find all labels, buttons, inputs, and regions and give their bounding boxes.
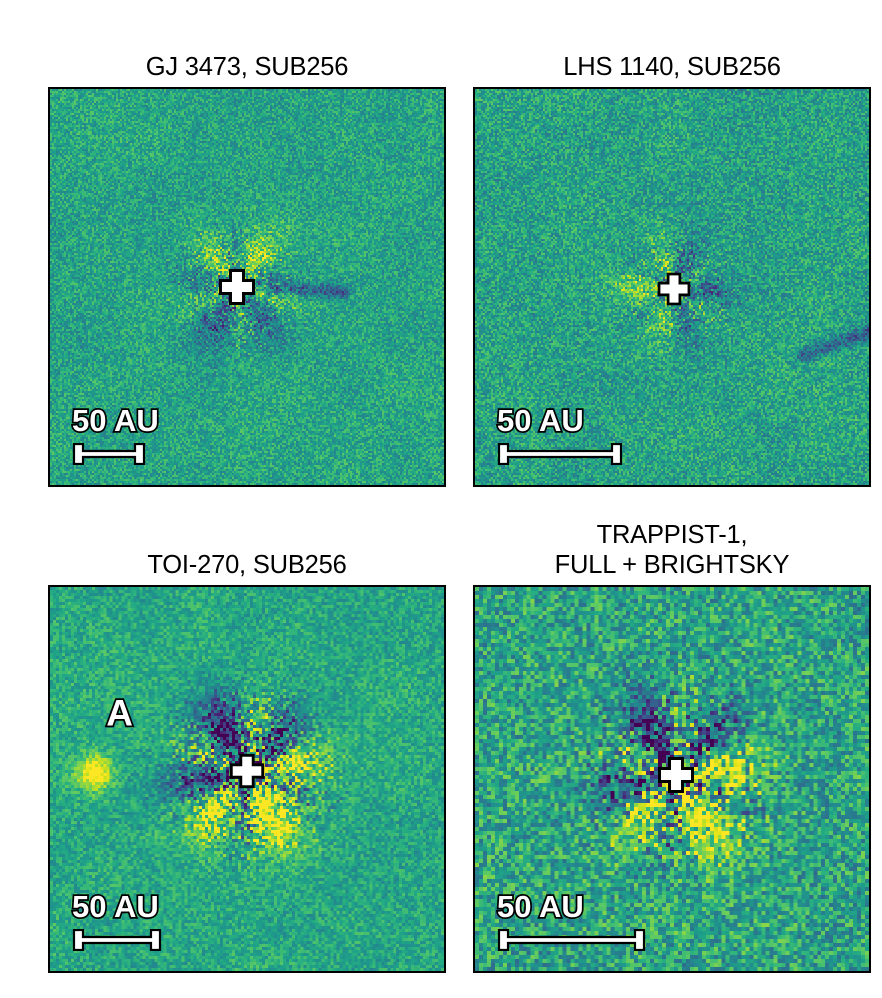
scalebar-lhs1140: 50 AU	[497, 405, 623, 465]
image-panel-gj3473[interactable]: GJ 3473, SUB256 50 AU	[48, 87, 446, 487]
panel-title-lhs1140: LHS 1140, SUB256	[473, 52, 871, 82]
panel-title-trappist1: TRAPPIST-1, FULL + BRIGHTSKY	[473, 520, 871, 580]
image-panel-trappist1[interactable]: TRAPPIST-1, FULL + BRIGHTSKY 50 AU	[473, 585, 871, 973]
scalebar-ibeam-toi270	[72, 929, 162, 951]
scalebar-trappist1: 50 AU	[497, 891, 646, 951]
scalebar-label-lhs1140: 50 AU	[497, 405, 623, 436]
scalebar-ibeam-gj3473	[72, 443, 146, 465]
scalebar-ibeam-lhs1140	[497, 443, 623, 465]
image-panel-toi270[interactable]: TOI-270, SUB256 A 50 AU	[48, 585, 446, 973]
panel-title-gj3473: GJ 3473, SUB256	[48, 52, 446, 82]
scalebar-label-trappist1: 50 AU	[497, 891, 646, 922]
scalebar-label-toi270: 50 AU	[72, 891, 162, 922]
scalebar-toi270: 50 AU	[72, 891, 162, 951]
companion-label-a: A	[106, 695, 133, 732]
scalebar-gj3473: 50 AU	[72, 405, 159, 465]
image-panel-lhs1140[interactable]: LHS 1140, SUB256 50 AU	[473, 87, 871, 487]
figure-canvas: GJ 3473, SUB256 50 AU LHS 1140, SUB256	[0, 0, 882, 998]
scalebar-ibeam-trappist1	[497, 929, 646, 951]
scalebar-label-gj3473: 50 AU	[72, 405, 159, 436]
panel-title-toi270: TOI-270, SUB256	[48, 550, 446, 580]
